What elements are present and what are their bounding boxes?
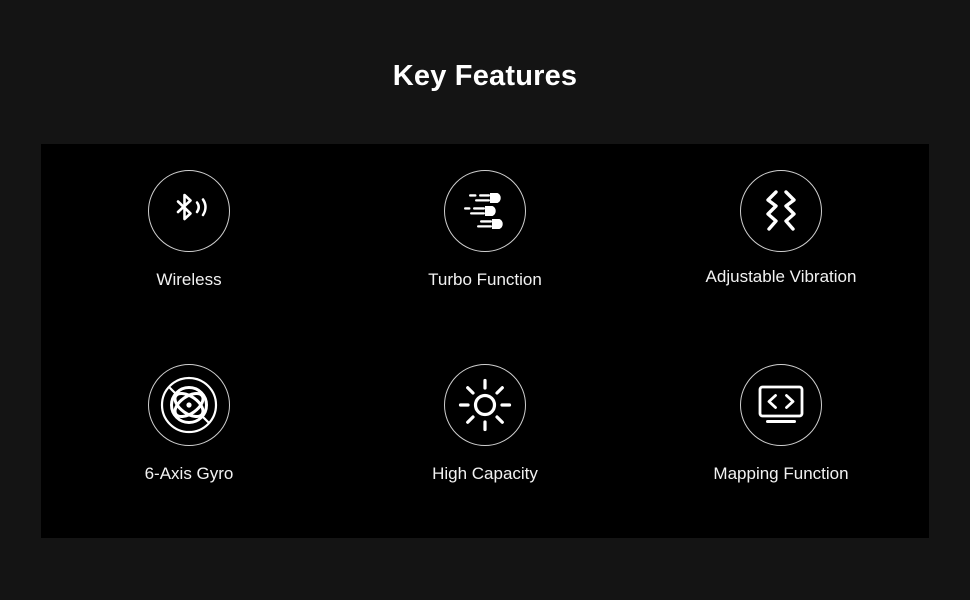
icon-circle [444, 364, 526, 446]
monitor-code-icon [755, 382, 807, 428]
feature-item-adjustable-vibration: Adjustable Vibration [633, 144, 929, 341]
feature-item-high-capacity: High Capacity [337, 341, 633, 538]
icon-circle [444, 170, 526, 252]
icon-circle [740, 170, 822, 252]
vibration-zigzag-icon [758, 187, 804, 235]
page-title: Key Features [0, 56, 970, 96]
feature-label: Adjustable Vibration [706, 266, 857, 288]
feature-label: Turbo Function [428, 269, 542, 291]
icon-circle [148, 364, 230, 446]
sun-brightness-icon [458, 378, 512, 432]
feature-item-mapping-function: Mapping Function [633, 341, 929, 538]
bluetooth-wireless-icon [165, 188, 213, 234]
feature-item-wireless: Wireless [41, 144, 337, 341]
feature-label: Wireless [156, 269, 221, 291]
feature-label: Mapping Function [713, 463, 848, 485]
feature-item-6-axis-gyro: 6-Axis Gyro [41, 341, 337, 538]
key-features-page: Key Features Wireless [0, 0, 970, 600]
icon-circle [740, 364, 822, 446]
feature-label: 6-Axis Gyro [145, 463, 234, 485]
feature-grid: Wireless [41, 144, 929, 538]
feature-label: High Capacity [432, 463, 538, 485]
gyroscope-icon [158, 374, 220, 436]
turbo-bullets-icon [459, 188, 511, 234]
feature-panel: Wireless [41, 144, 929, 538]
feature-item-turbo-function: Turbo Function [337, 144, 633, 341]
icon-circle [148, 170, 230, 252]
